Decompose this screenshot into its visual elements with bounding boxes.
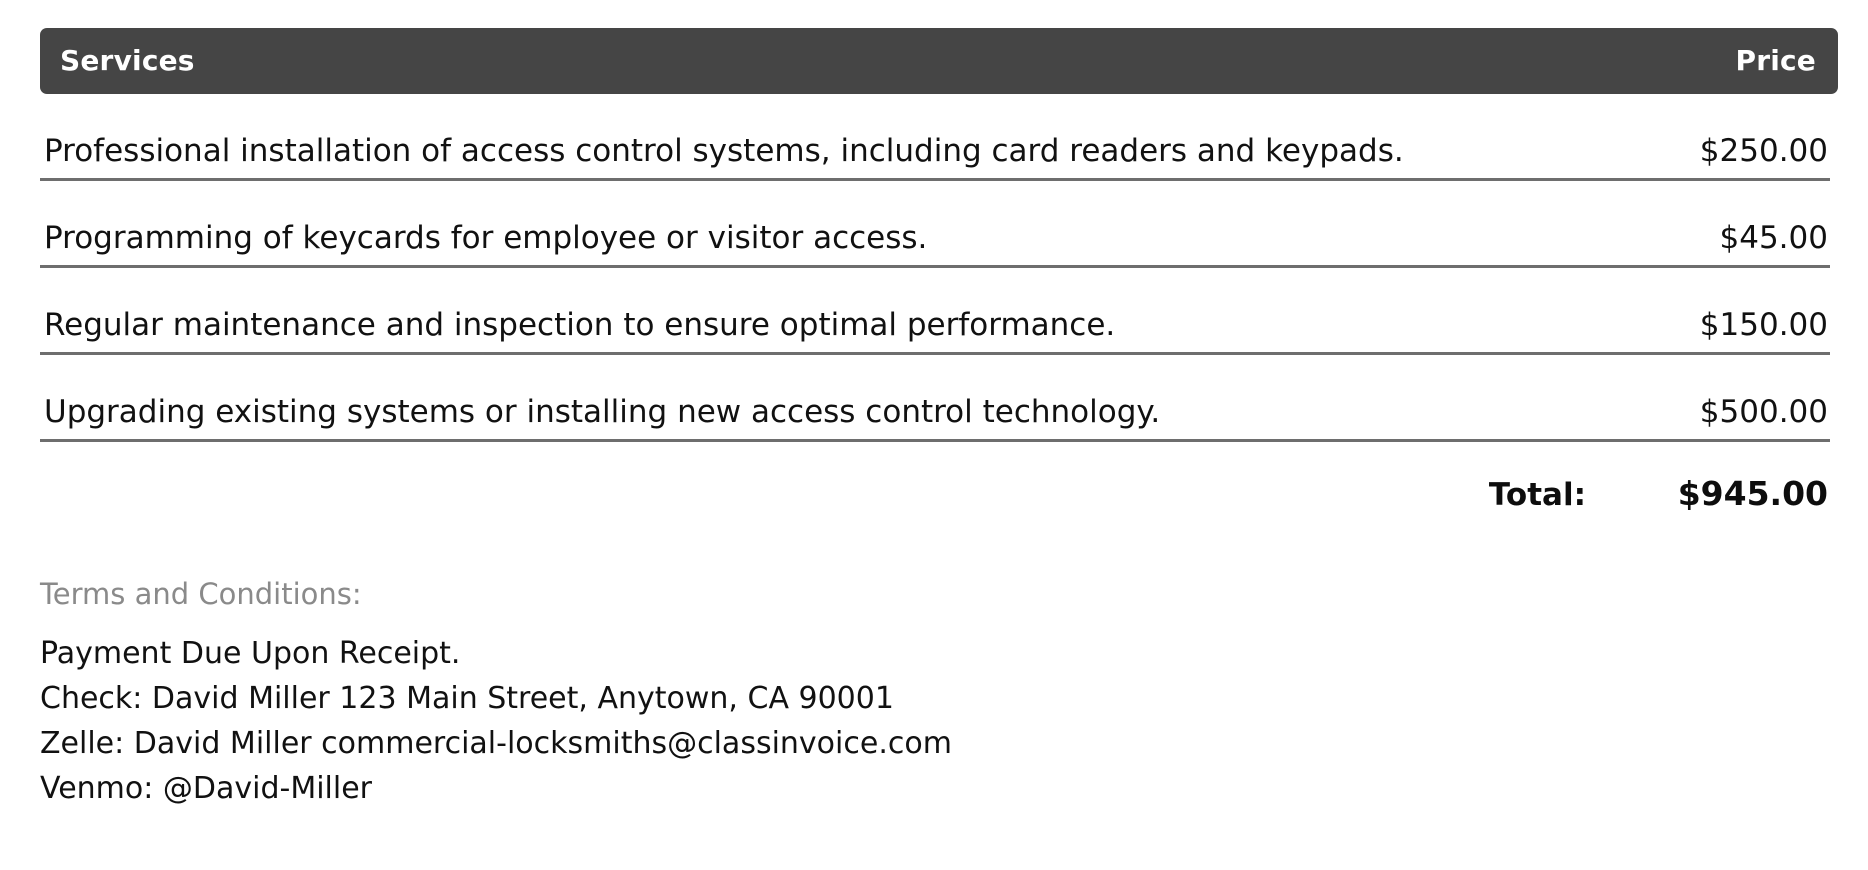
service-description: Programming of keycards for employee or …: [40, 221, 927, 255]
terms-title: Terms and Conditions:: [40, 580, 1540, 609]
service-price: $250.00: [1700, 134, 1830, 168]
column-header-services: Services: [60, 47, 195, 75]
table-row: Upgrading existing systems or installing…: [40, 355, 1830, 442]
table-body: Professional installation of access cont…: [40, 94, 1830, 520]
service-price: $500.00: [1700, 395, 1830, 429]
total-label: Total:: [1489, 478, 1586, 512]
table-row: Programming of keycards for employee or …: [40, 181, 1830, 268]
service-description: Regular maintenance and inspection to en…: [40, 308, 1115, 342]
column-header-price: Price: [1735, 47, 1816, 75]
terms-line-zelle: Zelle: David Miller commercial-locksmith…: [40, 721, 1540, 766]
service-description: Professional installation of access cont…: [40, 134, 1404, 168]
service-description: Upgrading existing systems or installing…: [40, 395, 1160, 429]
terms-line-venmo: Venmo: @David-Miller: [40, 766, 1540, 811]
terms-line-check: Check: David Miller 123 Main Street, Any…: [40, 676, 1540, 721]
total-row: Total: $945.00: [40, 442, 1830, 520]
total-amount: $945.00: [1670, 476, 1830, 512]
service-price: $150.00: [1700, 308, 1830, 342]
table-row: Professional installation of access cont…: [40, 94, 1830, 181]
terms-line-payment-due: Payment Due Upon Receipt.: [40, 631, 1540, 676]
services-table: Services Price Professional installation…: [40, 28, 1838, 520]
table-row: Regular maintenance and inspection to en…: [40, 268, 1830, 355]
invoice-page: Services Price Professional installation…: [0, 0, 1868, 870]
table-header-row: Services Price: [40, 28, 1838, 94]
terms-and-conditions-section: Terms and Conditions: Payment Due Upon R…: [40, 580, 1540, 811]
service-price: $45.00: [1720, 221, 1830, 255]
